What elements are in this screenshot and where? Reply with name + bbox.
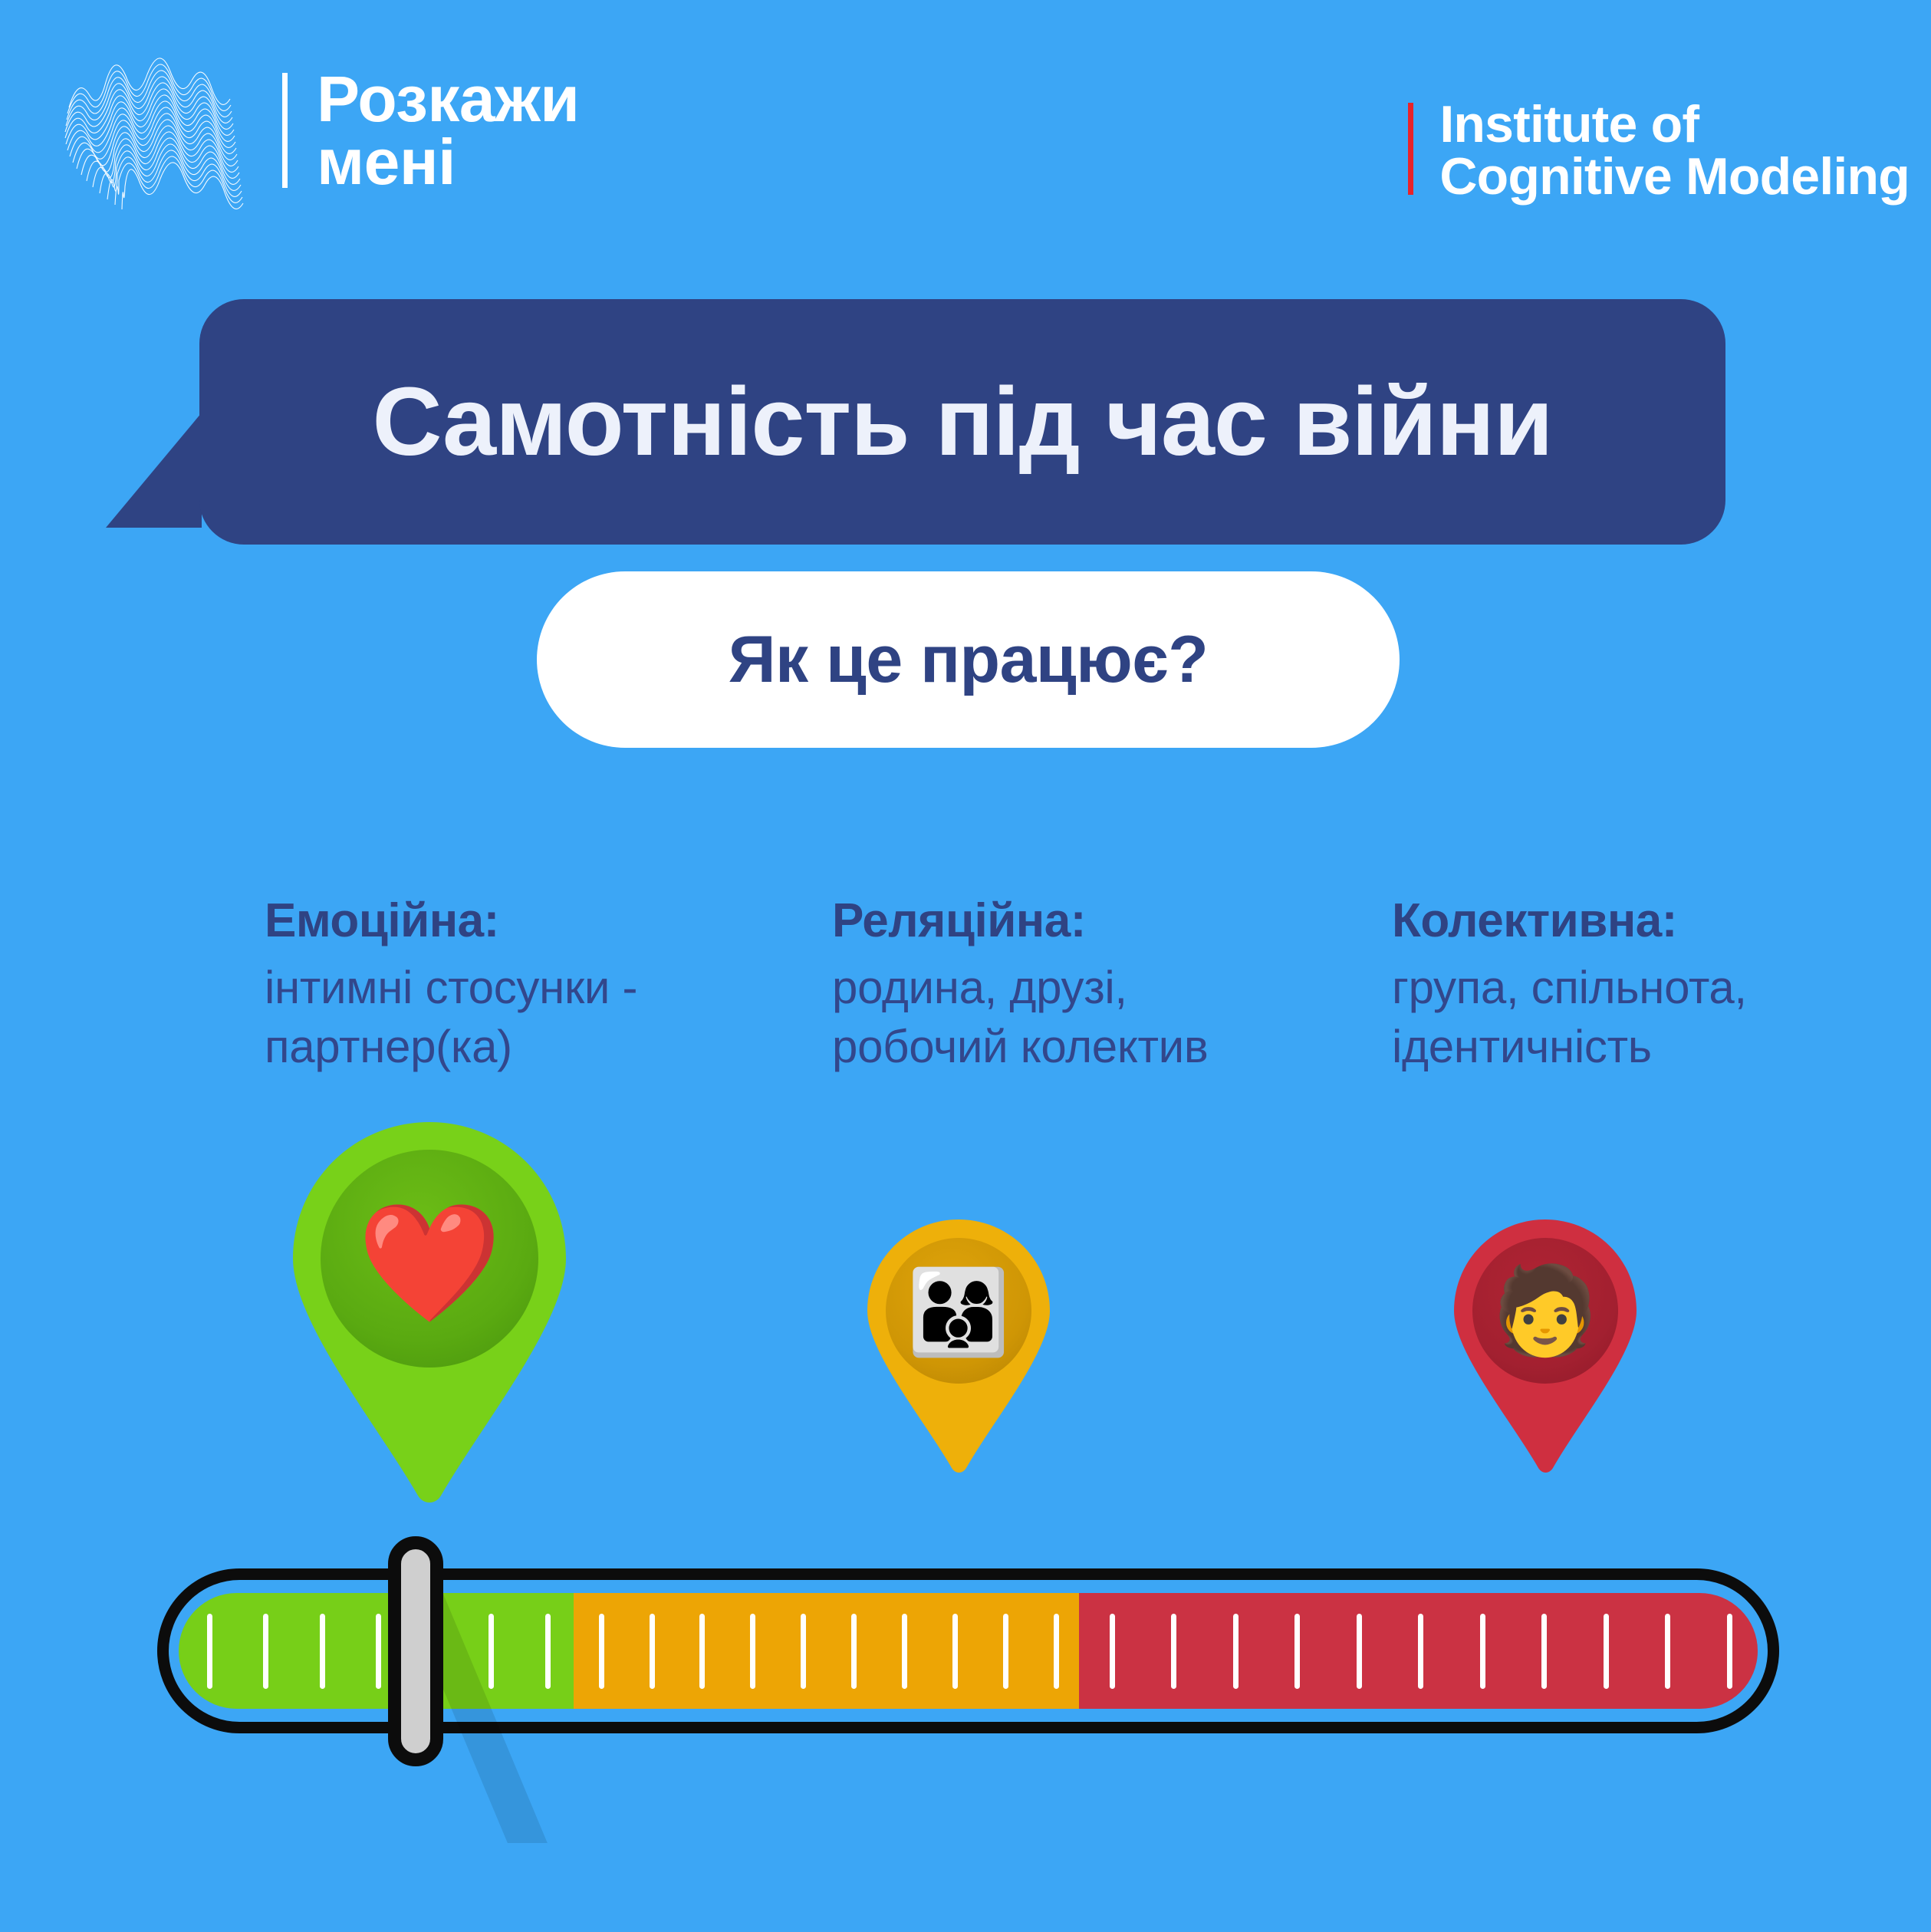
column-relational: Реляційна: родина, друзі, робочий колект… — [832, 894, 1338, 1077]
map-pins-row: ❤️ 👨‍👩‍👦 — [0, 1116, 1931, 1530]
map-pin-relational: 👨‍👩‍👦 — [863, 1216, 1054, 1480]
institute-logo-group: Institute of Cognitive Modeling — [1408, 98, 1910, 202]
red-heart-icon: ❤️ — [357, 1205, 502, 1321]
family-icon: 👨‍👩‍👦 — [907, 1271, 1010, 1354]
column-description: інтимні стосунки - партнер(ка) — [265, 959, 801, 1077]
brand-logo-group: Розкажи мені — [46, 42, 579, 219]
page-header: Розкажи мені Institute of Cognitive Mode… — [0, 0, 1931, 284]
brand-divider — [282, 73, 288, 188]
brand-name: Розкажи мені — [317, 67, 579, 194]
title-bubble-body: Самотність під час війни — [199, 299, 1725, 545]
column-description: група, спільнота, ідентичність — [1392, 959, 1898, 1077]
column-title: Колективна: — [1392, 894, 1898, 948]
column-description: родина, друзі, робочий колектив — [832, 959, 1338, 1077]
column-collective: Колективна: група, спільнота, ідентичніс… — [1392, 894, 1898, 1077]
title-speech-bubble: Самотність під час війни — [199, 299, 1725, 545]
speech-bubble-tail — [106, 413, 202, 528]
subtitle-text: Як це працює? — [729, 622, 1208, 698]
column-emotional: Емоційна: інтимні стосунки - партнер(ка) — [265, 894, 801, 1077]
wave-lines-logo-icon — [46, 35, 268, 226]
map-pin-emotional: ❤️ — [284, 1116, 575, 1515]
subtitle-pill: Як це працює? — [537, 571, 1400, 748]
institute-name: Institute of Cognitive Modeling — [1439, 98, 1910, 202]
column-title: Реляційна: — [832, 894, 1338, 948]
slider-handle[interactable] — [388, 1536, 443, 1766]
page-title: Самотність під час війни — [373, 374, 1553, 470]
loneliness-types-columns: Емоційна: інтимні стосунки - партнер(ка)… — [0, 894, 1931, 1124]
institute-divider — [1408, 103, 1413, 195]
column-title: Емоційна: — [265, 894, 801, 948]
person-icon: 🧑 — [1492, 1268, 1598, 1354]
loneliness-scale-slider[interactable] — [157, 1568, 1779, 1733]
map-pin-collective: 🧑 — [1449, 1216, 1641, 1480]
